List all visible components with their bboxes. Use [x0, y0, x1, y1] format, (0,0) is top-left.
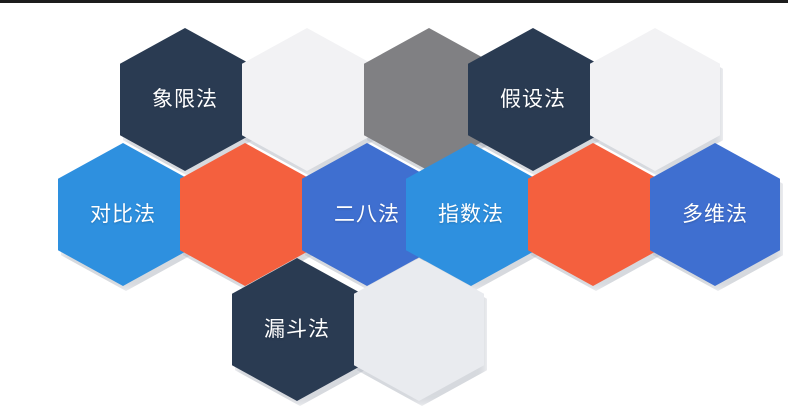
hexagon-label: 指数法 [438, 204, 504, 225]
hexagon-label: 多维法 [682, 204, 748, 225]
hexagon-label: 二八法 [334, 204, 400, 225]
hexagon-label: 假设法 [500, 89, 566, 110]
diagram-canvas: 象限法假设法对比法二八法指数法多维法漏斗法 [0, 0, 788, 409]
hexagon-honeycomb-grid: 象限法假设法对比法二八法指数法多维法漏斗法 [0, 0, 788, 409]
hexagon-label: 象限法 [152, 89, 218, 110]
hexagon-label: 对比法 [90, 204, 156, 225]
hexagon-label: 漏斗法 [264, 319, 330, 340]
